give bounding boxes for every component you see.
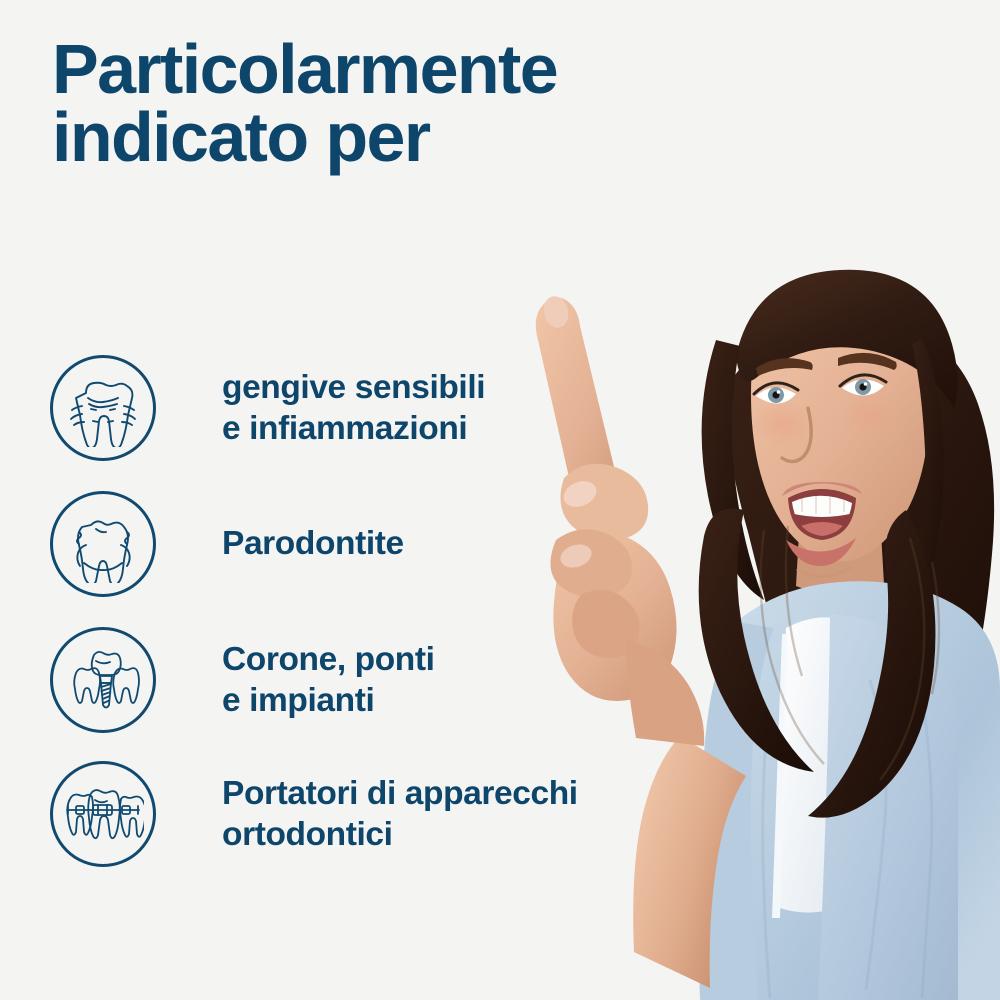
- page-title-line-2: indicato per: [52, 104, 872, 172]
- cheek-left: [752, 400, 812, 448]
- hair-over-shoulder: [808, 510, 935, 818]
- hair-back: [725, 318, 994, 810]
- hair-highlights: [761, 526, 939, 780]
- list-item[interactable]: Corone, ponti e impianti: [50, 624, 710, 736]
- eye-left: [754, 383, 798, 404]
- cardigan-left-sleeve: [700, 622, 774, 1000]
- neck: [796, 480, 884, 595]
- list-item[interactable]: Parodontite: [50, 488, 710, 600]
- eyebrow-right: [838, 353, 897, 370]
- tooth-sensitive-gums-icon: [50, 355, 156, 461]
- mouth: [788, 489, 856, 540]
- lower-lip: [786, 538, 856, 566]
- list-item-label: Parodontite: [222, 523, 404, 564]
- cardigan-body: [698, 581, 1000, 1000]
- feature-list: gengive sensibili e infiammazioni: [50, 352, 710, 870]
- hair-left-strand: [702, 340, 764, 600]
- eye-right: [840, 375, 886, 396]
- cheek-right: [840, 392, 900, 440]
- nose: [782, 408, 811, 462]
- list-item[interactable]: gengive sensibili e infiammazioni: [50, 352, 710, 464]
- eyebrow-left: [756, 358, 813, 376]
- page-title-line-1: Particolarmente: [52, 36, 872, 104]
- hair-front-left: [699, 508, 814, 772]
- page-title: Particolarmente indicato per: [52, 36, 872, 172]
- list-item-label: Corone, ponti e impianti: [222, 639, 435, 721]
- shirt-edge: [772, 634, 788, 918]
- fabric-folds: [763, 680, 932, 998]
- tooth-periodontitis-icon: [50, 491, 156, 597]
- chin-shadow: [798, 568, 850, 577]
- hair-fringe: [736, 270, 958, 408]
- list-item-label: gengive sensibili e infiammazioni: [222, 367, 485, 449]
- cardigan-right-panel: [818, 614, 958, 1000]
- upper-lip: [782, 482, 862, 496]
- hair-right-strand: [900, 338, 944, 662]
- promo-banner: Particolarmente indicato per: [0, 0, 1000, 1000]
- list-item-label: Portatori di apparecchi ortodontici: [222, 773, 578, 855]
- shirt-placket: [780, 617, 844, 912]
- teeth: [786, 488, 858, 542]
- teeth-braces-orthodontic-icon: [50, 761, 156, 867]
- index-fingernail: [540, 294, 571, 331]
- dental-implant-crown-bridge-icon: [50, 627, 156, 733]
- face: [751, 287, 930, 562]
- list-item[interactable]: Portatori di apparecchi ortodontici: [50, 758, 710, 870]
